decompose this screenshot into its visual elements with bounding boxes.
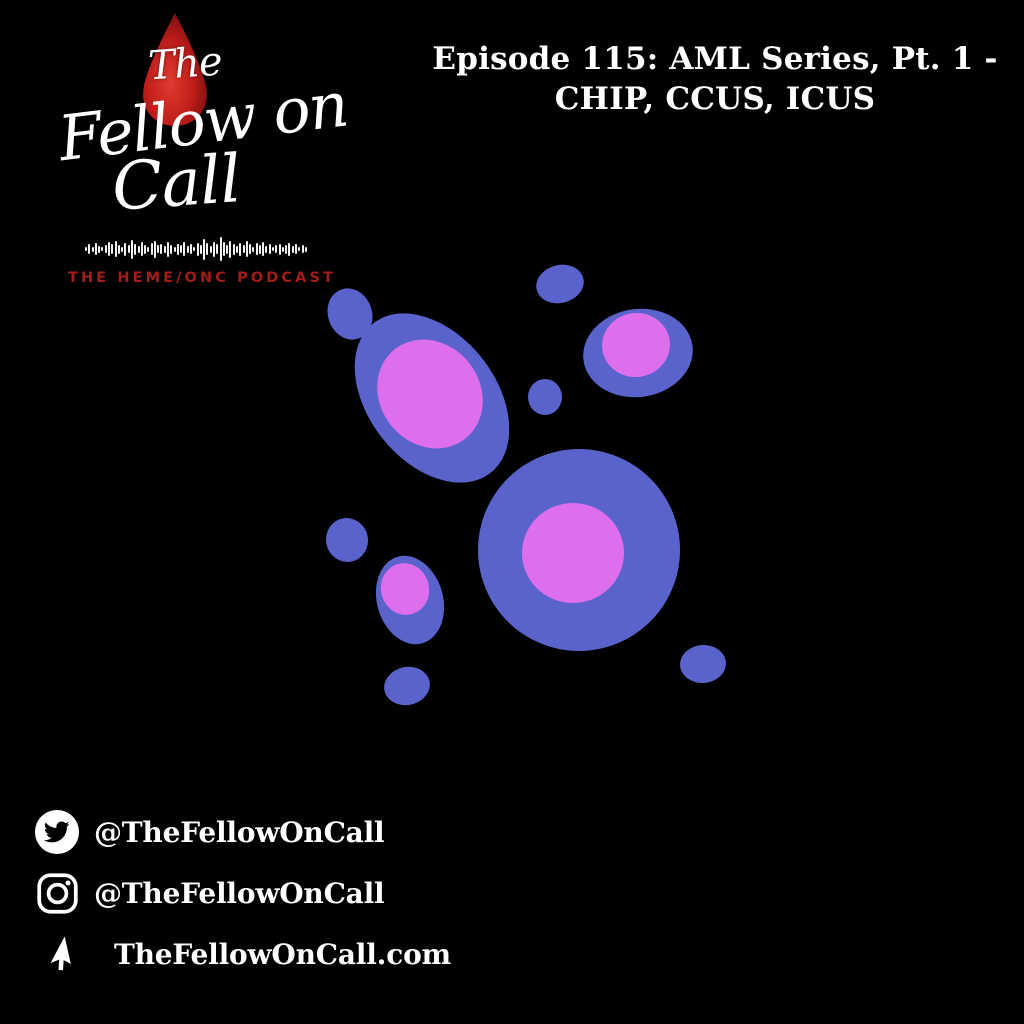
waveform-bar [105,245,107,253]
waveform-bar [226,245,228,254]
waveform-bar [197,243,199,256]
instagram-handle: @TheFellowOnCall [94,877,384,910]
waveform-bar [85,247,87,251]
waveform-bar [115,241,117,257]
twitter-handle: @TheFellowOnCall [94,816,384,849]
social-links: @TheFellowOnCall @TheFellowOnCall [32,802,452,985]
waveform-bar [203,239,205,260]
waveform-bar [285,245,287,254]
waveform-bar [272,247,274,251]
waveform-bar [282,247,284,252]
waveform-bar [236,246,238,253]
waveform-bar [177,244,179,255]
cell-lower-left-nucleus [375,557,435,620]
waveform-bar [134,244,136,255]
waveform-bar [95,243,97,255]
waveform-bar [229,241,231,258]
waveform-bar [147,247,149,252]
platelet-middle [528,379,562,415]
episode-title: Episode 115: AML Series, Pt. 1 - CHIP, C… [420,40,1010,119]
waveform-bar [118,245,120,254]
waveform-bar [279,244,281,255]
podcast-cover-art: The Fellow on Call THE HEME/ONC PODCAST … [0,0,1024,1024]
waveform-bar [220,237,222,261]
waveform-bar [141,242,143,256]
waveform-bar [128,245,130,253]
instagram-icon [32,868,82,918]
waveform-bar [160,244,162,254]
waveform-bar [249,244,251,254]
waveform-bar [213,242,215,257]
cursor-arrow-icon [32,929,92,979]
platelet-top-left [320,282,379,346]
waveform-bar [259,245,261,254]
waveform-bar [108,242,110,256]
waveform-bar [98,246,100,253]
waveform-bar [216,244,218,254]
waveform-bar [246,241,248,257]
waveform-bar [252,247,254,252]
waveform-bar [180,245,182,253]
waveform-bar [298,247,300,251]
waveform-bar [239,243,241,256]
audio-waveform-icon [85,236,307,262]
waveform-bar [121,247,123,252]
waveform-bar [200,245,202,254]
cell-large-center-nucleus [522,503,624,603]
waveform-bar [167,242,169,257]
waveform-bar [174,247,176,252]
waveform-bar [151,243,153,255]
waveform-bar [295,244,297,254]
waveform-bar [206,243,208,255]
podcast-logo: The Fellow on Call THE HEME/ONC PODCAST [52,8,322,293]
cell-upper-right-cytoplasm [577,302,698,404]
platelet-left [322,514,372,566]
waveform-bar [124,243,126,256]
platelet-bottom-right [679,643,728,684]
waveform-bar [292,246,294,253]
logo-word-the: The [139,41,232,87]
waveform-bar [190,244,192,254]
waveform-bar [88,244,90,254]
waveform-bar [233,244,235,255]
waveform-bar [302,245,304,253]
platelet-top-mid [532,260,588,308]
cell-large-center-cytoplasm [478,449,680,651]
logo-tagline: THE HEME/ONC PODCAST [52,270,352,286]
waveform-bar [262,242,264,256]
waveform-bar [187,246,189,253]
social-link-twitter[interactable]: @TheFellowOnCall [32,802,452,862]
waveform-bar [131,240,133,259]
waveform-bar [183,242,185,256]
waveform-bar [144,245,146,254]
waveform-bar [243,245,245,253]
waveform-bar [138,246,140,253]
waveform-bar [288,243,290,256]
waveform-bar [223,242,225,256]
waveform-bar [305,247,307,252]
waveform-bar [111,244,113,254]
social-link-instagram[interactable]: @TheFellowOnCall [32,863,452,923]
waveform-bar [275,245,277,253]
waveform-bar [265,246,267,253]
waveform-bar [92,247,94,252]
waveform-bar [269,244,271,254]
cell-upper-right-nucleus [598,309,674,382]
waveform-bar [101,247,103,251]
waveform-bar [210,246,212,253]
waveform-bar [193,247,195,251]
platelet-bottom-left [381,663,434,710]
cell-upper-left-cytoplasm [323,284,541,513]
waveform-bar [256,243,258,255]
waveform-bar [157,245,159,253]
twitter-icon [32,807,82,857]
website-url: TheFellowOnCall.com [114,938,451,971]
waveform-bar [154,241,156,258]
waveform-bar [164,246,166,253]
logo-word-call: Call [110,144,314,219]
cell-lower-left-cytoplasm [366,548,454,653]
cell-upper-left-nucleus [356,318,505,469]
waveform-bar [170,245,172,254]
social-link-website[interactable]: TheFellowOnCall.com [32,924,452,984]
